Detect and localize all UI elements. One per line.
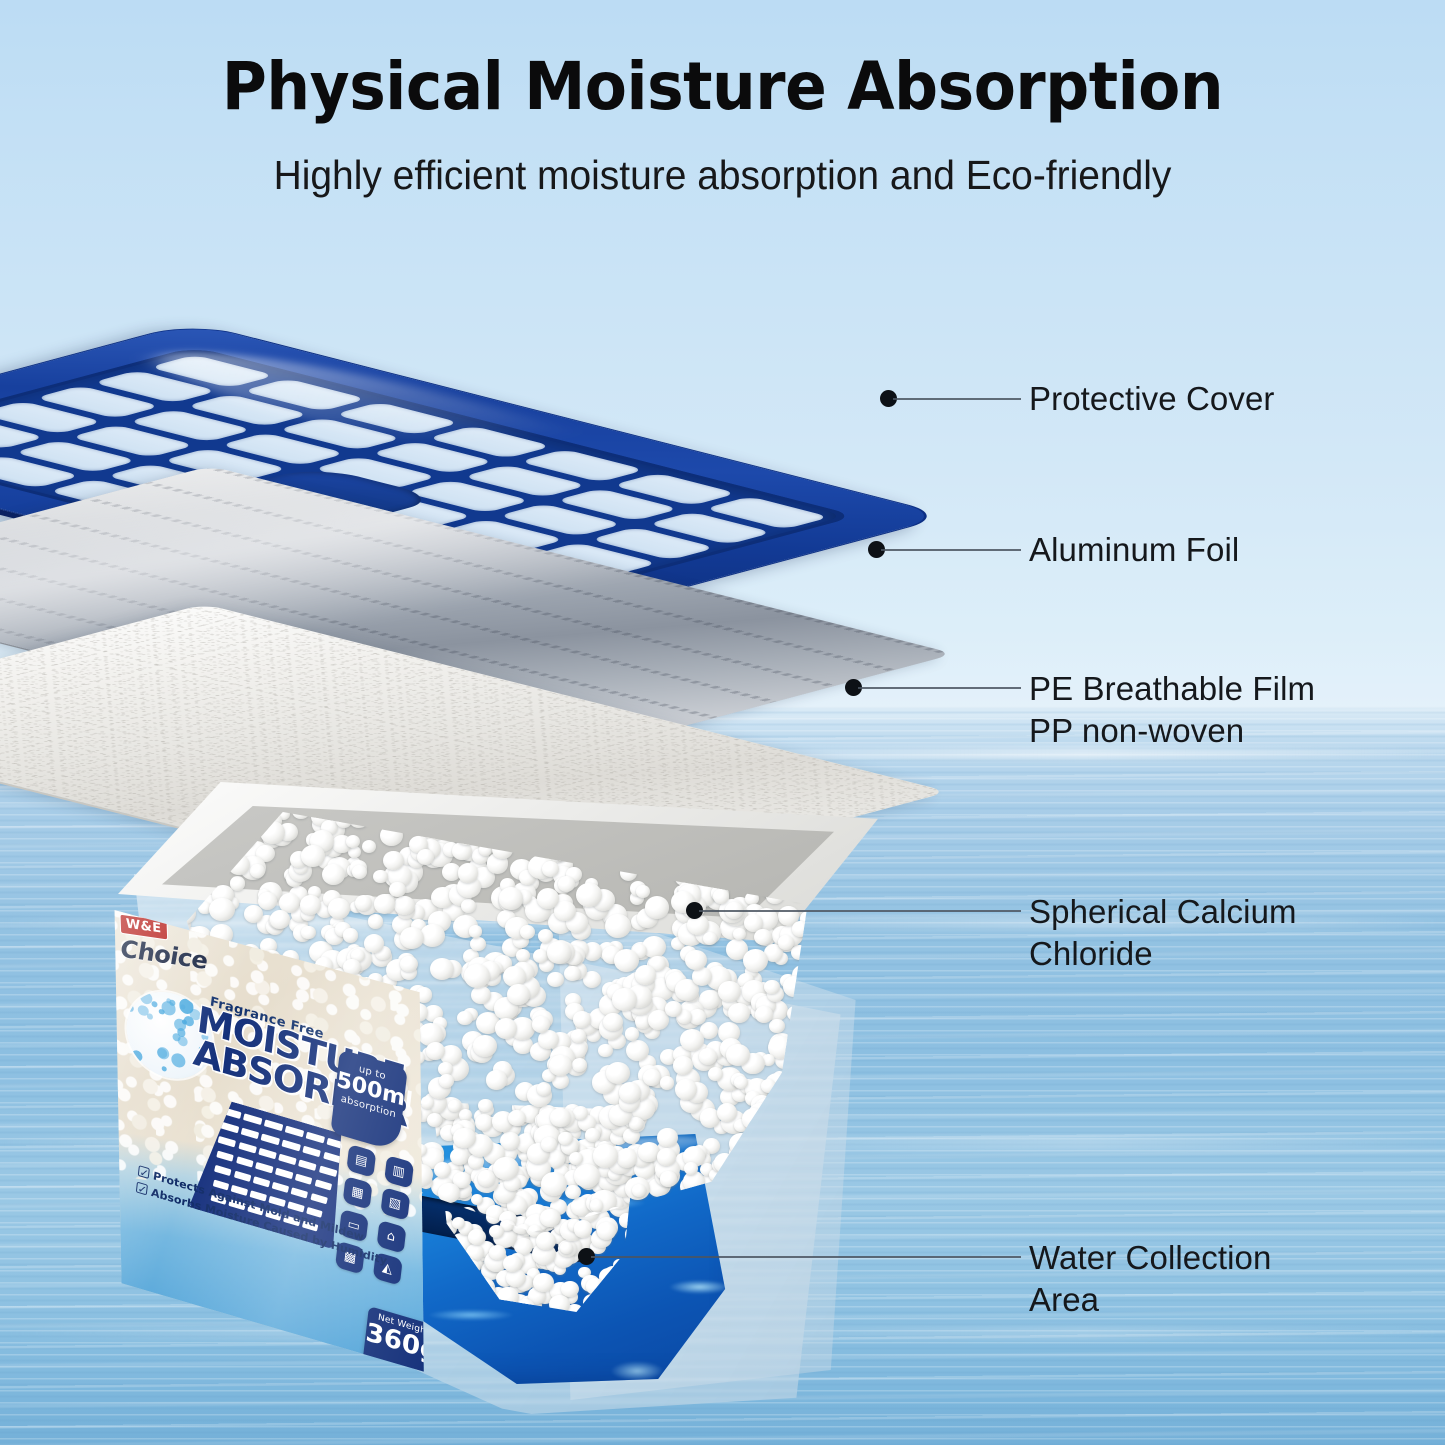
calcium-chloride-bead	[657, 1128, 677, 1147]
calcium-chloride-bead	[499, 887, 524, 910]
calcium-chloride-bead	[352, 865, 367, 879]
calcium-chloride-bead	[450, 1148, 468, 1165]
calcium-chloride-bead	[250, 864, 265, 878]
calcium-chloride-bead	[703, 932, 717, 945]
calcium-chloride-bead	[547, 941, 572, 964]
calcium-chloride-bead	[343, 928, 359, 943]
callout-label: Protective Cover	[1029, 378, 1275, 420]
calcium-chloride-bead	[258, 892, 277, 910]
calcium-chloride-bead	[489, 1245, 506, 1261]
calcium-chloride-bead	[665, 1001, 681, 1016]
callout-label: Aluminum Foil	[1029, 529, 1239, 571]
pe-breathable-film-layer	[104, 590, 904, 770]
calcium-chloride-bead	[368, 914, 384, 929]
lid-artwork-bar	[233, 1171, 251, 1182]
lid-artwork-bar	[310, 1193, 328, 1204]
calcium-chloride-bead	[373, 870, 388, 884]
water-droplet-dot	[172, 1052, 186, 1068]
calcium-chloride-bead	[636, 885, 650, 898]
lid-artwork-bar	[218, 1136, 236, 1148]
calcium-chloride-bead	[778, 935, 794, 949]
calcium-chloride-bead	[420, 924, 445, 947]
calcium-chloride-bead	[743, 949, 768, 972]
calcium-chloride-bead	[549, 1055, 572, 1076]
water-droplet-dot	[157, 1046, 169, 1060]
calcium-chloride-bead	[448, 1100, 461, 1112]
calcium-chloride-bead	[532, 1016, 550, 1033]
calcium-chloride-bead	[468, 1229, 485, 1245]
leader-line	[699, 910, 1021, 912]
calcium-chloride-bead	[660, 1076, 674, 1089]
calcium-chloride-bead	[718, 981, 740, 1002]
lid-artwork-bar	[258, 1148, 276, 1160]
calcium-chloride-bead	[625, 1027, 640, 1041]
callout-label: Water Collection Area	[1029, 1237, 1271, 1321]
calcium-chloride-bead	[547, 972, 564, 988]
calcium-chloride-bead	[645, 896, 670, 919]
calcium-chloride-bead	[421, 1096, 434, 1108]
lid-artwork-bar	[253, 1176, 271, 1187]
calcium-chloride-bead	[617, 1148, 638, 1167]
lid-artwork-bar	[264, 1119, 283, 1131]
calcium-chloride-bead	[508, 1110, 526, 1127]
lid-artwork-bar	[278, 1154, 296, 1166]
lid-artwork-bar	[243, 1113, 262, 1125]
calcium-chloride-bead	[810, 953, 827, 969]
leader-line	[591, 1256, 1021, 1258]
calcium-chloride-bead	[478, 1170, 496, 1187]
calcium-chloride-bead	[728, 1003, 750, 1023]
calcium-chloride-bead	[657, 1148, 676, 1166]
calcium-chloride-bead	[699, 1048, 717, 1065]
calcium-chloride-bead	[493, 1157, 518, 1180]
lid-artwork-bar	[238, 1142, 256, 1154]
calcium-chloride-bead	[590, 1199, 603, 1211]
calcium-chloride-bead	[537, 1082, 551, 1095]
calcium-chloride-bead	[461, 899, 476, 913]
calcium-chloride-bead	[573, 1011, 591, 1027]
leader-line	[858, 687, 1021, 689]
water-droplet-dot	[147, 1013, 153, 1020]
calcium-chloride-bead	[346, 835, 360, 848]
leader-line	[893, 398, 1021, 400]
lid-artwork-bar	[285, 1126, 304, 1138]
page-title: Physical Moisture Absorption	[51, 52, 1395, 121]
calcium-chloride-bead	[675, 1079, 697, 1100]
water-droplet-dot	[127, 1005, 134, 1012]
calcium-chloride-bead	[400, 927, 424, 949]
calcium-chloride-bead	[364, 934, 384, 953]
calcium-chloride-bead	[576, 883, 602, 907]
calcium-chloride-bead	[230, 876, 245, 890]
calcium-chloride-bead	[680, 1029, 704, 1051]
lid-artwork-bar	[236, 1156, 254, 1167]
calcium-chloride-bead	[495, 1018, 517, 1039]
calcium-chloride-bead	[643, 1069, 661, 1086]
calcium-chloride-bead	[475, 1114, 493, 1131]
lid-artwork-bar	[240, 1128, 259, 1140]
calcium-chloride-bead	[301, 926, 316, 940]
lid-artwork-bar	[319, 1165, 337, 1177]
calcium-chloride-bead	[558, 876, 575, 892]
calcium-chloride-bead	[733, 928, 746, 940]
lid-artwork-bar	[216, 1150, 234, 1161]
calcium-chloride-bead	[603, 1013, 622, 1031]
calcium-chloride-bead	[301, 845, 325, 867]
calcium-chloride-bead	[470, 937, 486, 952]
calcium-chloride-bead	[536, 1232, 555, 1250]
lid-artwork-bar	[214, 1165, 232, 1176]
calcium-chloride-bead	[533, 949, 548, 963]
calcium-chloride-bead	[322, 864, 345, 885]
lid-artwork-bar	[261, 1134, 280, 1146]
calcium-chloride-bead	[792, 921, 809, 937]
lid-artwork-bar	[255, 1162, 273, 1173]
lid-artwork-bar	[282, 1140, 301, 1152]
calcium-chloride-bead	[764, 980, 780, 995]
calcium-chloride-bead	[606, 1062, 630, 1084]
calcium-chloride-bead	[541, 1172, 567, 1196]
callout-label: PE Breathable Film PP non-woven	[1029, 668, 1315, 752]
calcium-chloride-bead	[629, 1117, 642, 1129]
water-droplet-dot	[162, 1066, 167, 1072]
callout-label: Spherical Calcium Chloride	[1029, 891, 1297, 975]
calcium-chloride-bead	[458, 863, 479, 882]
drawer-icon: ▦	[343, 1176, 373, 1210]
calcium-chloride-bead	[520, 925, 535, 939]
calcium-chloride-bead	[209, 898, 234, 922]
calcium-chloride-bead	[538, 1030, 558, 1049]
calcium-chloride-bead	[486, 1070, 507, 1089]
calcium-chloride-bead	[619, 1082, 641, 1103]
calcium-chloride-bead	[684, 1162, 698, 1175]
calcium-chloride-bead	[791, 945, 808, 961]
calcium-chloride-bead	[574, 1220, 593, 1237]
calcium-chloride-bead	[452, 1217, 465, 1229]
lid-artwork-bar	[275, 1168, 293, 1179]
calcium-chloride-bead	[453, 1128, 475, 1149]
calcium-chloride-bead	[565, 1185, 580, 1199]
calcium-chloride-bead	[162, 800, 175, 812]
calcium-chloride-bead	[439, 1074, 454, 1088]
calcium-chloride-bead	[540, 1209, 560, 1228]
calcium-chloride-bead	[574, 1164, 600, 1188]
calcium-chloride-bead	[457, 1011, 473, 1025]
leader-line	[881, 549, 1021, 551]
calcium-chloride-bead	[503, 1255, 522, 1272]
calcium-chloride-bead	[612, 988, 637, 1011]
calcium-chloride-bead	[270, 910, 290, 928]
calcium-chloride-bead	[769, 1019, 785, 1033]
calcium-chloride-bead	[374, 894, 395, 914]
lid-artwork-bar	[291, 1187, 309, 1198]
use-case-icons: ▤ ▥ ▦ ▧ ▭ ⌂ ▩ ◭	[335, 1144, 419, 1288]
calcium-chloride-bead	[430, 958, 454, 980]
lid-artwork-bar	[323, 1152, 342, 1164]
lid-artwork-bar	[302, 1146, 321, 1158]
calcium-chloride-bead	[389, 882, 406, 897]
calcium-chloride-bead	[300, 895, 321, 915]
calcium-chloride-bead	[328, 898, 350, 919]
calcium-chloride-bead	[754, 929, 771, 945]
calcium-chloride-bead	[400, 956, 418, 973]
lid-artwork-bar	[298, 1160, 316, 1172]
calcium-chloride-bead	[464, 964, 490, 988]
calcium-chloride-bead	[394, 896, 415, 915]
lid-artwork-bar	[295, 1173, 313, 1184]
calcium-chloride-bead	[614, 949, 639, 973]
lid-artwork-bar	[314, 1179, 332, 1190]
calcium-chloride-bead	[632, 1184, 646, 1197]
lid-artwork-bar	[272, 1182, 290, 1193]
calcium-chloride-bead	[585, 1128, 600, 1142]
shoes-icon: ▧	[380, 1187, 410, 1221]
calcium-chloride-bead	[593, 1144, 619, 1168]
calcium-chloride-bead	[507, 984, 530, 1005]
calcium-chloride-bead	[685, 950, 706, 970]
calcium-chloride-bead	[478, 1099, 492, 1112]
clothes-hanger-icon: ⌂	[376, 1219, 406, 1253]
calcium-chloride-bead	[660, 1171, 676, 1186]
calcium-chloride-bead	[605, 914, 631, 938]
calcium-chloride-bead	[572, 1058, 587, 1072]
calcium-chloride-bead	[597, 1222, 617, 1240]
lid-artwork-bar	[306, 1132, 325, 1144]
calcium-chloride-bead	[542, 861, 560, 877]
page-subtitle: Highly efficient moisture absorption and…	[36, 152, 1409, 199]
calcium-chloride-bead	[473, 1035, 497, 1057]
water-droplet-dot	[125, 986, 129, 991]
calcium-chloride-bead	[427, 1113, 442, 1127]
water-droplet-dot	[151, 1000, 158, 1007]
calcium-chloride-bead	[362, 840, 376, 853]
calcium-chloride-bead	[598, 1044, 613, 1058]
